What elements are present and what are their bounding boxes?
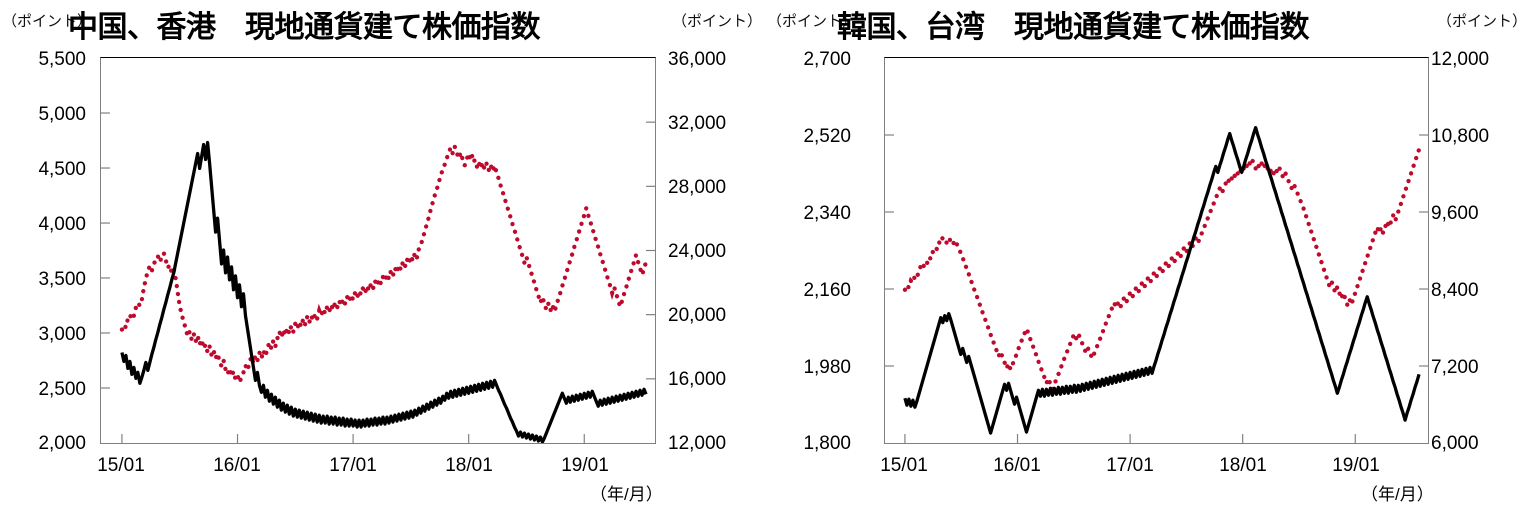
series-line-taiwan <box>905 150 1419 390</box>
x-axis-caption: （年/月） <box>1361 480 1434 505</box>
y2-axis-tick-label: 8,400 <box>1431 280 1479 302</box>
y-axis-tick-label: 2,500 <box>8 379 86 401</box>
y2-axis-tick-label: 12,000 <box>668 433 726 455</box>
right-axis-unit-label: （ポイント） <box>1437 10 1527 31</box>
chart-title: 韓国、台湾 現地通貨建て株価指数 <box>837 2 1309 46</box>
y2-axis-tick-label: 28,000 <box>668 177 726 199</box>
y-axis-tick-label: 3,000 <box>8 324 86 346</box>
y-axis-tick-label: 2,700 <box>773 49 851 71</box>
x-axis-tick-label: 19/01 <box>1332 455 1380 477</box>
y2-axis-tick-label: 9,600 <box>1431 203 1479 225</box>
y2-axis-tick-label: 12,000 <box>1431 49 1489 71</box>
x-axis-tick-label: 17/01 <box>1106 455 1154 477</box>
chart-panel-china-hongkong: （ポイント） 中国、香港 現地通貨建て株価指数 （ポイント） 5,500 5,0… <box>0 0 765 506</box>
plot-svg <box>885 58 1428 443</box>
y-axis-tick-label: 5,000 <box>8 104 86 126</box>
y-axis-tick-label: 5,500 <box>8 49 86 71</box>
y-axis-tick-label: 1,800 <box>773 433 851 455</box>
y2-axis-ticks <box>646 122 655 379</box>
y-axis-tick-label: 2,160 <box>773 280 851 302</box>
x-axis-tick-label: 18/01 <box>445 455 493 477</box>
x-axis-ticks <box>905 434 1355 443</box>
plot-area <box>884 57 1429 444</box>
y-axis-tick-label: 2,340 <box>773 203 851 225</box>
plot-area <box>100 57 656 444</box>
y2-axis-tick-label: 6,000 <box>1431 433 1479 455</box>
x-axis-tick-label: 15/01 <box>97 455 145 477</box>
y-axis-ticks <box>101 113 110 388</box>
y2-axis-tick-label: 16,000 <box>668 369 726 391</box>
series-line-hongkong <box>122 147 646 383</box>
x-axis-caption: （年/月） <box>590 480 663 505</box>
y-axis-ticks <box>885 135 894 366</box>
y-axis-tick-label: 2,000 <box>8 433 86 455</box>
y-axis-tick-label: 2,520 <box>773 126 851 148</box>
y2-axis-tick-label: 24,000 <box>668 241 726 263</box>
x-axis-tick-label: 18/01 <box>1219 455 1267 477</box>
y2-axis-tick-label: 36,000 <box>668 49 726 71</box>
x-axis-tick-label: 19/01 <box>561 455 609 477</box>
x-axis-tick-label: 17/01 <box>329 455 377 477</box>
y2-axis-tick-label: 20,000 <box>668 305 726 327</box>
series-line-korea <box>905 128 1419 433</box>
right-axis-unit-label: （ポイント） <box>672 10 762 31</box>
plot-svg <box>101 58 655 443</box>
x-axis-tick-label: 16/01 <box>213 455 261 477</box>
y-axis-tick-label: 1,980 <box>773 357 851 379</box>
y-axis-tick-label: 4,500 <box>8 159 86 181</box>
series-line-china <box>122 143 646 442</box>
y2-axis-tick-label: 7,200 <box>1431 357 1479 379</box>
y2-axis-tick-label: 10,800 <box>1431 126 1489 148</box>
chart-title: 中国、香港 現地通貨建て株価指数 <box>68 2 540 46</box>
x-axis-ticks <box>122 434 584 443</box>
y2-axis-tick-label: 32,000 <box>668 113 726 135</box>
y-axis-tick-label: 4,000 <box>8 214 86 236</box>
x-axis-tick-label: 15/01 <box>880 455 928 477</box>
chart-panel-korea-taiwan: （ポイント） 韓国、台湾 現地通貨建て株価指数 （ポイント） 2,700 2,5… <box>765 0 1530 506</box>
y2-axis-ticks <box>1419 135 1428 366</box>
x-axis-tick-label: 16/01 <box>993 455 1041 477</box>
y-axis-tick-label: 3,500 <box>8 269 86 291</box>
